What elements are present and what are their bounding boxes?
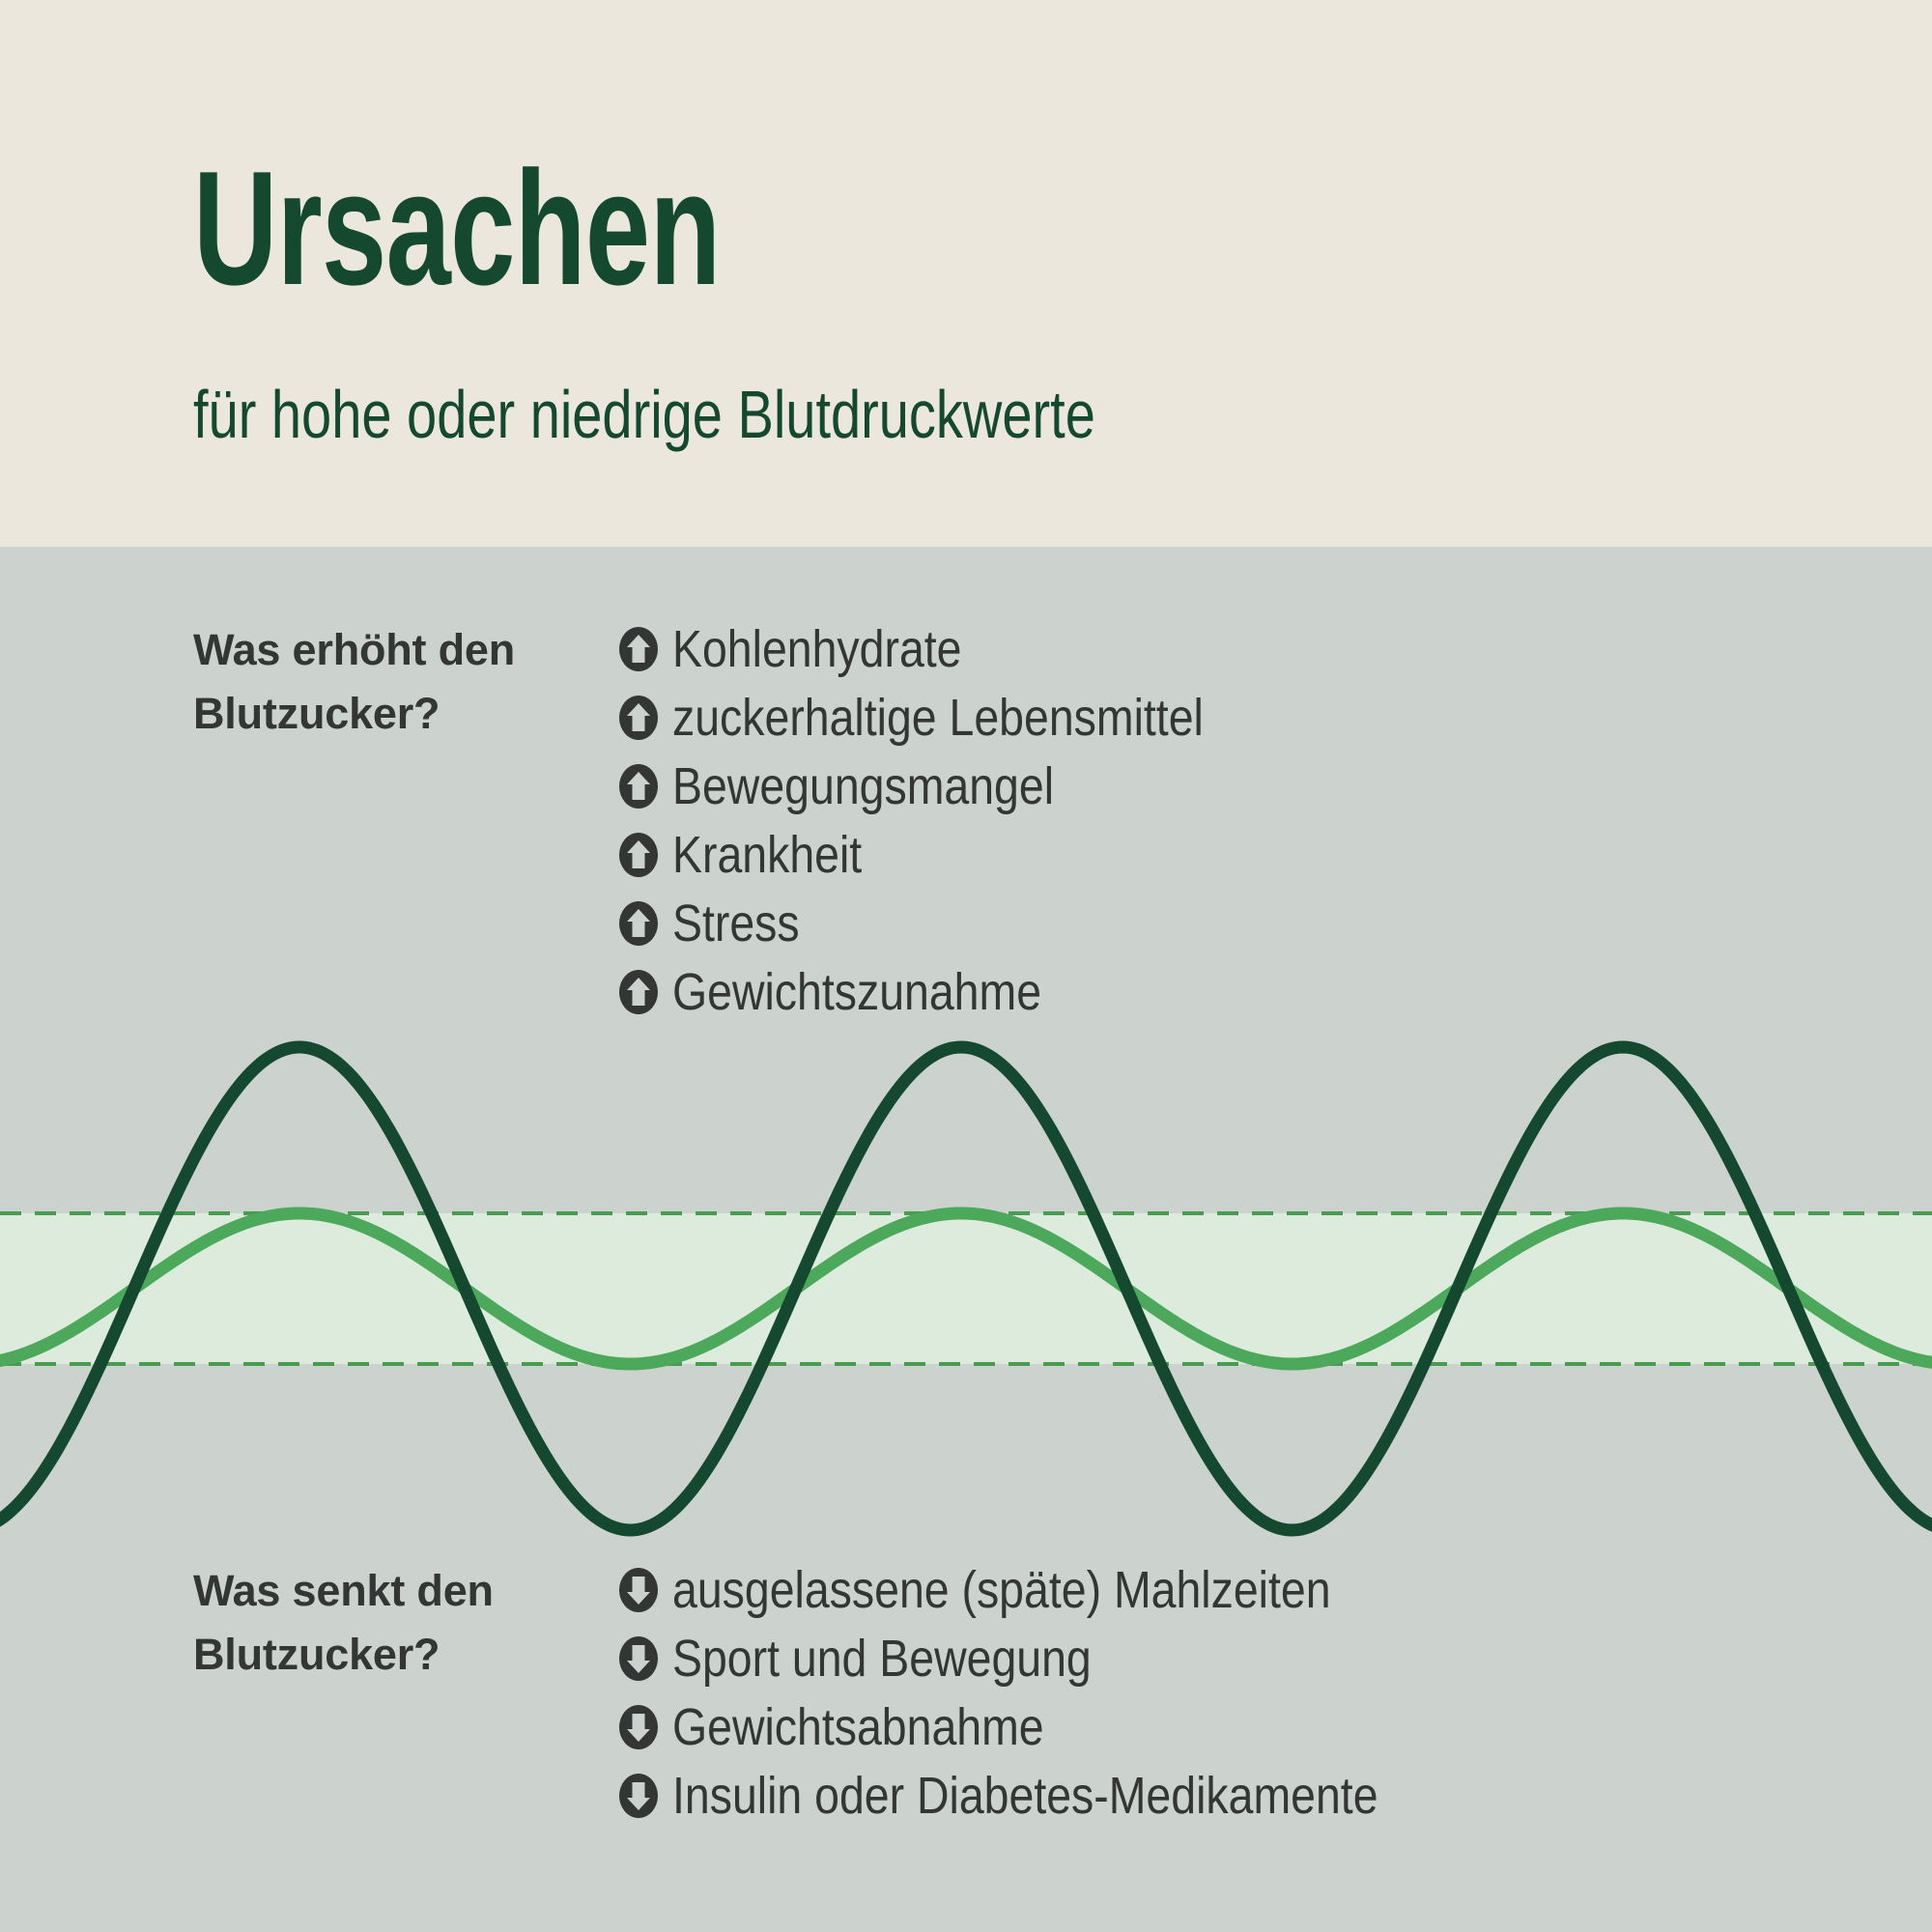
arrow-down-circle-icon <box>616 1705 661 1749</box>
arrow-up-circle-icon <box>616 833 661 877</box>
infographic-page: Ursachen für hohe oder niedrige Blutdruc… <box>0 0 1932 1932</box>
arrow-up-circle-icon <box>616 696 661 740</box>
list-item-label: Sport und Bewegung <box>672 1632 1092 1686</box>
list-item-label: Gewichtszunahme <box>672 965 1041 1019</box>
list-item-label: Insulin oder Diabetes-Medikamente <box>672 1769 1378 1823</box>
list-item: Krankheit <box>616 820 1290 889</box>
list-item-label: Krankheit <box>672 828 862 882</box>
raises-heading-line-1: Was erhöht den <box>193 618 616 682</box>
raises-heading-line-2: Blutzucker? <box>193 682 616 746</box>
list-item: Bewegungsmangel <box>616 752 1290 820</box>
list-item: Kohlenhydrate <box>616 614 1290 683</box>
list-item-label: ausgelassene (späte) Mahlzeiten <box>672 1563 1331 1617</box>
header-banner: Ursachen für hohe oder niedrige Blutdruc… <box>0 0 1932 547</box>
list-item: Gewichtszunahme <box>616 957 1290 1026</box>
arrow-up-circle-icon <box>616 970 661 1014</box>
list-item: zuckerhaltige Lebensmittel <box>616 683 1290 752</box>
page-title: Ursachen <box>193 151 721 305</box>
list-item-label: Kohlenhydrate <box>672 622 962 676</box>
section-raises-blood-sugar: Was erhöht den Blutzucker? Kohlenhydrate… <box>193 618 1290 1026</box>
target-range-band <box>0 1213 1932 1364</box>
lowers-heading-line-2: Blutzucker? <box>193 1623 616 1687</box>
lowers-list: ausgelassene (späte) MahlzeitenSport und… <box>616 1555 1492 1830</box>
arrow-up-circle-icon <box>616 764 661 809</box>
raises-question-heading: Was erhöht den Blutzucker? <box>193 618 616 746</box>
lowers-question-heading: Was senkt den Blutzucker? <box>193 1559 616 1687</box>
raises-list: Kohlenhydratezuckerhaltige LebensmittelB… <box>616 614 1290 1026</box>
list-item: Sport und Bewegung <box>616 1624 1492 1692</box>
lowers-heading-line-1: Was senkt den <box>193 1559 616 1623</box>
arrow-up-circle-icon <box>616 901 661 946</box>
section-lowers-blood-sugar: Was senkt den Blutzucker? ausgelassene (… <box>193 1559 1492 1830</box>
arrow-down-circle-icon <box>616 1774 661 1818</box>
list-item-label: zuckerhaltige Lebensmittel <box>672 691 1204 745</box>
list-item-label: Stress <box>672 896 800 951</box>
arrow-up-circle-icon <box>616 627 661 671</box>
page-subtitle: für hohe oder niedrige Blutdruckwerte <box>193 377 1095 452</box>
list-item: Insulin oder Diabetes-Medikamente <box>616 1761 1492 1830</box>
list-item: Stress <box>616 889 1290 957</box>
arrow-down-circle-icon <box>616 1568 661 1612</box>
list-item: ausgelassene (späte) Mahlzeiten <box>616 1555 1492 1624</box>
list-item-label: Bewegungsmangel <box>672 759 1054 813</box>
arrow-down-circle-icon <box>616 1636 661 1681</box>
list-item-label: Gewichtsabnahme <box>672 1700 1044 1754</box>
list-item: Gewichtsabnahme <box>616 1692 1492 1761</box>
